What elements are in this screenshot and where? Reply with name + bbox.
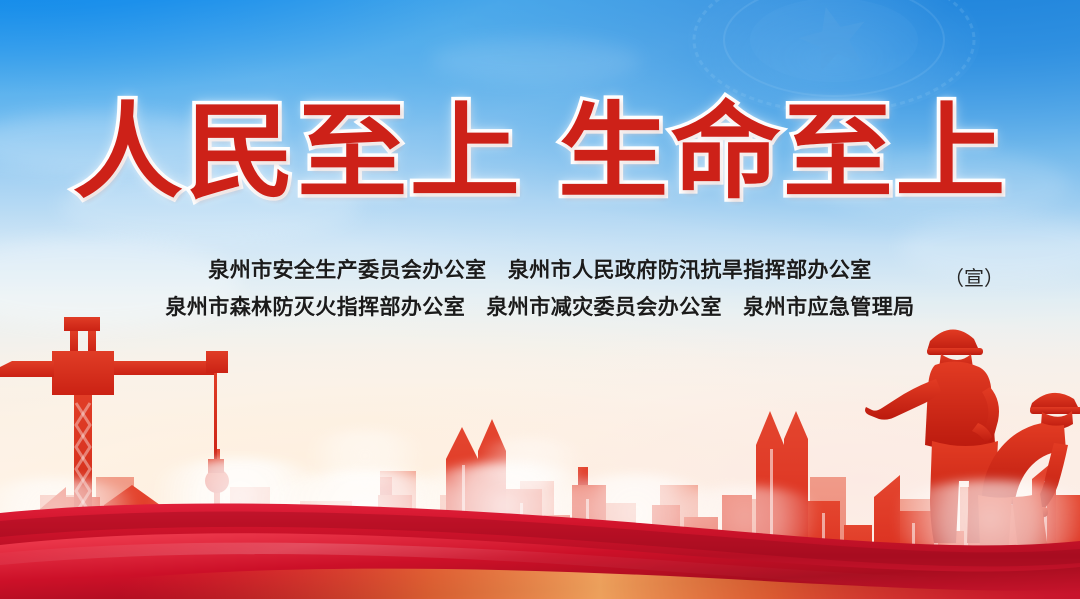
headline-right: 生命至上 xyxy=(558,91,1007,213)
poster-canvas: 人民至上生命至上 泉州市安全生产委员会办公室 泉州市人民政府防汛抗旱指挥部办公室… xyxy=(0,0,1080,599)
issuing-agencies: 泉州市安全生产委员会办公室 泉州市人民政府防汛抗旱指挥部办公室 泉州市森林防灭火… xyxy=(0,252,1080,326)
headline-container: 人民至上生命至上 xyxy=(0,98,1080,207)
agency-line-2: 泉州市森林防灭火指挥部办公室 泉州市减灾委员会办公室 泉州市应急管理局 xyxy=(0,289,1080,326)
agency-line-1: 泉州市安全生产委员会办公室 泉州市人民政府防汛抗旱指挥部办公室 xyxy=(0,252,1080,289)
page-title: 人民至上生命至上 xyxy=(73,98,1008,207)
issuer-mark: （宣） xyxy=(944,262,1004,291)
city-scene xyxy=(0,299,1080,599)
headline-left: 人民至上 xyxy=(73,91,522,213)
